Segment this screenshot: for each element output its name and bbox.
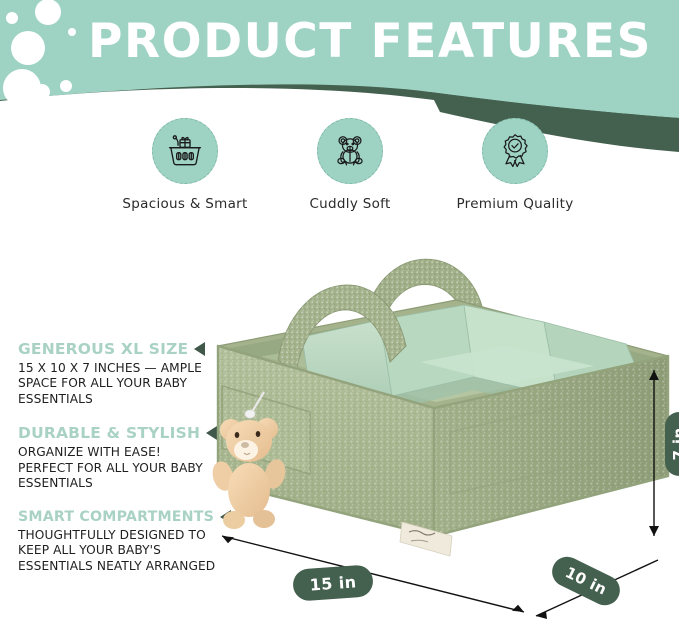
text-block-durable-stylish: DURABLE & STYLISH ORGANIZE WITH EASE! PE…	[18, 424, 218, 491]
teddy-bear-icon	[317, 118, 383, 184]
feature-item-cuddly: Cuddly Soft	[275, 118, 425, 212]
dimension-badge-width: 15 in	[292, 564, 374, 602]
quality-badge-icon	[482, 118, 548, 184]
bubble-small-1	[34, 84, 50, 100]
feature-label: Spacious & Smart	[122, 196, 247, 212]
width-guide-line	[222, 536, 524, 612]
dimension-badge-height: 7 in	[665, 412, 679, 476]
product-features-infographic: PRODUCT FEATURES Spacious	[0, 0, 679, 625]
text-block-smart-compartments: SMART COMPARTMENTS THOUGHTFULLY DESIGNED…	[18, 509, 218, 574]
block-body: ORGANIZE WITH EASE! PERFECT FOR ALL YOUR…	[18, 445, 218, 491]
feature-text-blocks: GENEROUS XL SIZE 15 X 10 X 7 INCHES — AM…	[18, 340, 218, 591]
block-heading-row: GENEROUS XL SIZE	[18, 340, 218, 358]
block-body: THOUGHTFULLY DESIGNED TO KEEP ALL YOUR B…	[18, 528, 218, 574]
block-heading: GENEROUS XL SIZE	[18, 340, 188, 358]
bubble-tiny-1	[6, 12, 18, 24]
block-heading: SMART COMPARTMENTS	[18, 509, 214, 525]
bubble-large-2	[3, 69, 41, 107]
header-mint-wave	[0, 0, 679, 118]
page-title: PRODUCT FEATURES	[88, 17, 628, 66]
left-arrow-icon	[194, 342, 205, 356]
block-heading-row: DURABLE & STYLISH	[18, 424, 218, 442]
feature-icon-row: Spacious & Smart	[110, 118, 590, 212]
feature-item-premium: Premium Quality	[440, 118, 590, 212]
block-heading: DURABLE & STYLISH	[18, 424, 200, 442]
text-block-generous-xl-size: GENEROUS XL SIZE 15 X 10 X 7 INCHES — AM…	[18, 340, 218, 407]
basket-icon	[152, 118, 218, 184]
feature-label: Cuddly Soft	[309, 196, 390, 212]
bubble-medium-1	[35, 0, 61, 25]
bubble-tiny-2	[68, 28, 76, 36]
feature-item-spacious: Spacious & Smart	[110, 118, 260, 212]
block-body: 15 X 10 X 7 INCHES — AMPLE SPACE FOR ALL…	[18, 361, 218, 407]
feature-label: Premium Quality	[456, 196, 573, 212]
product-photo	[206, 236, 679, 625]
bubble-small-2	[60, 80, 72, 92]
bubble-large-1	[11, 31, 45, 65]
block-heading-row: SMART COMPARTMENTS	[18, 509, 218, 525]
